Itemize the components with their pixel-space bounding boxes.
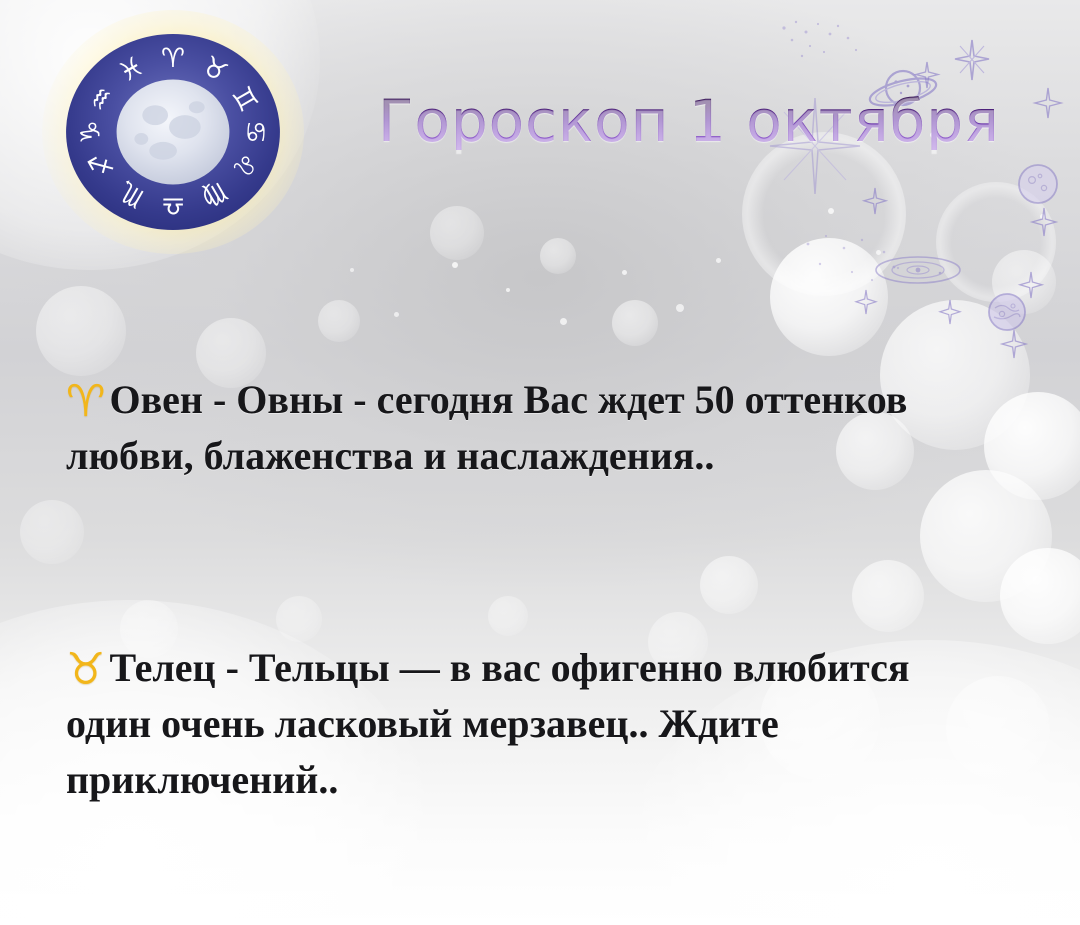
planet-doodle-icon <box>985 290 1029 334</box>
stardust-doodle-icon <box>800 230 910 290</box>
page-title: Гороскоп 1 октября <box>378 92 1000 150</box>
star-doodle-icon <box>955 40 989 80</box>
star-doodle-icon <box>916 62 938 88</box>
bokeh-circle <box>540 238 576 274</box>
sparkle <box>676 304 684 312</box>
bokeh-circle <box>984 392 1080 500</box>
sparkle <box>560 318 567 325</box>
star-doodle-icon <box>856 290 876 314</box>
sparkle <box>876 250 881 255</box>
bokeh-circle <box>1000 548 1080 644</box>
forecast-body-taurus: Телец - Тельцы — в вас офигенно влюбится… <box>66 645 910 802</box>
taurus-glyph-icon: ♉ <box>66 644 105 695</box>
bokeh-circle <box>318 300 360 342</box>
bokeh-circle <box>700 556 758 614</box>
bokeh-circle <box>488 596 528 636</box>
forecast-text-aries: ♈Овен - Овны - сегодня Вас ждет 50 оттен… <box>66 372 996 484</box>
planet-doodle-icon <box>1014 160 1062 208</box>
star-doodle-icon <box>1032 208 1056 236</box>
forecast-text-taurus: ♉Телец - Тельцы — в вас офигенно влюбитс… <box>66 640 996 808</box>
svg-text:♎: ♎ <box>161 190 185 221</box>
bokeh-circle <box>276 596 322 642</box>
forecast-block-aries: ♈Овен - Овны - сегодня Вас ждет 50 оттен… <box>66 372 996 484</box>
sparkle <box>394 312 399 317</box>
bokeh-circle <box>20 500 84 564</box>
sparkle <box>350 268 354 272</box>
star-doodle-icon <box>1035 88 1061 118</box>
star-doodle-icon <box>1002 330 1026 358</box>
star-doodle-icon <box>940 300 960 324</box>
bokeh-circle <box>992 250 1056 314</box>
stardust-doodle-icon <box>778 18 862 64</box>
forecast-block-taurus: ♉Телец - Тельцы — в вас офигенно влюбитс… <box>66 640 996 808</box>
bokeh-ring <box>742 132 906 296</box>
bokeh-ring <box>936 182 1056 302</box>
sparkle <box>1040 214 1045 219</box>
bokeh-circle <box>36 286 126 376</box>
galaxy-doodle-icon <box>872 248 964 292</box>
zodiac-wheel-emblem: ♈ ♉ ♊ ♋ ♌ ♍ ♎ ♏ ♐ ♑ ♒ ♓ <box>48 18 298 244</box>
aries-glyph-icon: ♈ <box>66 376 105 427</box>
sparkle <box>622 270 627 275</box>
bokeh-circle <box>770 238 888 356</box>
star-doodle-icon <box>1020 272 1042 298</box>
zodiac-wheel-disc: ♈ ♉ ♊ ♋ ♌ ♍ ♎ ♏ ♐ ♑ ♒ ♓ <box>64 32 282 232</box>
forecast-body-aries: Овен - Овны - сегодня Вас ждет 50 оттенк… <box>66 377 907 478</box>
sparkle <box>828 208 834 214</box>
sparkle <box>716 258 721 263</box>
bokeh-circle <box>920 470 1052 602</box>
svg-text:♋: ♋ <box>240 120 271 144</box>
sparkle <box>506 288 510 292</box>
svg-text:♈: ♈ <box>161 43 185 74</box>
bokeh-circle <box>612 300 658 346</box>
sparkle <box>452 262 458 268</box>
svg-text:♑: ♑ <box>75 120 106 144</box>
star-doodle-icon <box>864 188 886 214</box>
horoscope-poster: ♈ ♉ ♊ ♋ ♌ ♍ ♎ ♏ ♐ ♑ ♒ ♓ Гороскоп 1 октяб… <box>0 0 1080 925</box>
bokeh-circle <box>852 560 924 632</box>
bokeh-circle <box>430 206 484 260</box>
